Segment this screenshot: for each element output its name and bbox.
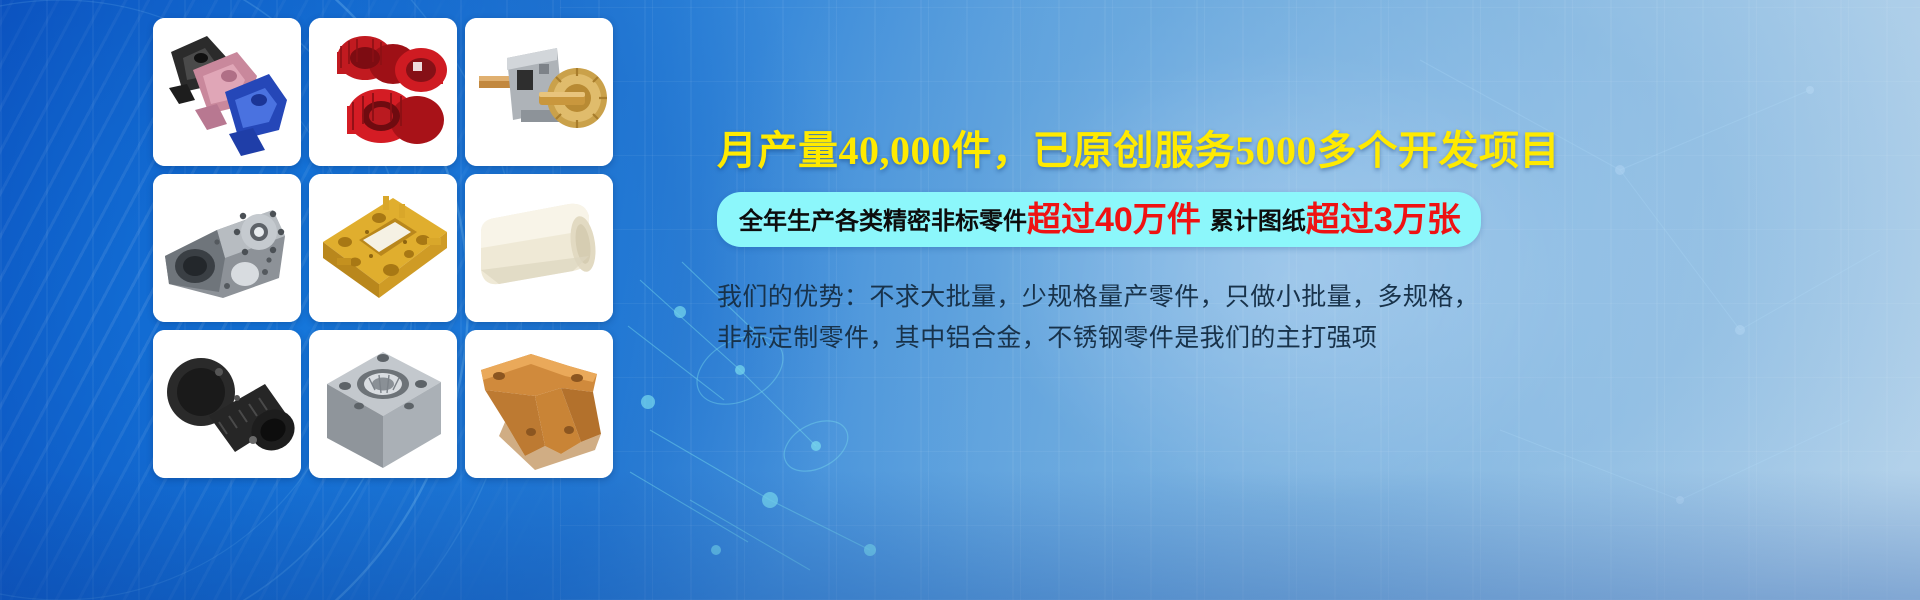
black-knurled-spindle-image bbox=[153, 330, 301, 478]
copper-support-arm-image bbox=[465, 330, 613, 478]
gold-anodized-frame-plate-image bbox=[309, 174, 457, 322]
product-card-anodized-lever-brackets[interactable] bbox=[153, 18, 301, 166]
stats-highlight-band: 全年生产各类精密非标零件 超过40万件 累计图纸 超过3万张 bbox=[717, 192, 1481, 247]
product-card-copper-support-arm[interactable] bbox=[465, 330, 613, 478]
aluminum-gearbox-housing-image bbox=[153, 174, 301, 322]
background-bottom-fade bbox=[0, 470, 1920, 600]
product-card-black-knurled-spindle[interactable] bbox=[153, 330, 301, 478]
product-card-steel-cube-block[interactable] bbox=[309, 330, 457, 478]
steel-cube-block-image bbox=[309, 330, 457, 478]
product-card-brass-worm-gear-shaft[interactable] bbox=[465, 18, 613, 166]
stat-value-annual-output: 超过40万件 bbox=[1027, 203, 1201, 237]
product-card-aluminum-gearbox-housing[interactable] bbox=[153, 174, 301, 322]
stat-value-drawings: 超过3万张 bbox=[1306, 203, 1461, 237]
promo-copy: 月产量40,000件，已原创服务5000多个开发项目 全年生产各类精密非标零件 … bbox=[717, 128, 1897, 358]
white-nylon-cylinder-image bbox=[465, 174, 613, 322]
brass-worm-gear-shaft-image bbox=[465, 18, 613, 166]
headline: 月产量40,000件，已原创服务5000多个开发项目 bbox=[717, 128, 1897, 174]
product-gallery-grid bbox=[153, 18, 613, 478]
advantages-line-1: 我们的优势：不求大批量，少规格量产零件，只做小批量，多规格， bbox=[717, 277, 1897, 318]
anodized-lever-brackets-image bbox=[153, 18, 301, 166]
stat-label-annual-output: 全年生产各类精密非标零件 bbox=[739, 201, 1027, 236]
product-card-white-nylon-cylinder[interactable] bbox=[465, 174, 613, 322]
advantages-line-2: 非标定制零件，其中铝合金，不锈钢零件是我们的主打强项 bbox=[717, 318, 1897, 359]
advantages-paragraph: 我们的优势：不求大批量，少规格量产零件，只做小批量，多规格， 非标定制零件，其中… bbox=[717, 277, 1897, 358]
red-splined-housings-image bbox=[309, 18, 457, 166]
stat-label-drawings: 累计图纸 bbox=[1210, 201, 1306, 236]
promo-banner: 月产量40,000件，已原创服务5000多个开发项目 全年生产各类精密非标零件 … bbox=[0, 0, 1920, 600]
product-card-gold-anodized-frame-plate[interactable] bbox=[309, 174, 457, 322]
product-card-red-splined-housings[interactable] bbox=[309, 18, 457, 166]
